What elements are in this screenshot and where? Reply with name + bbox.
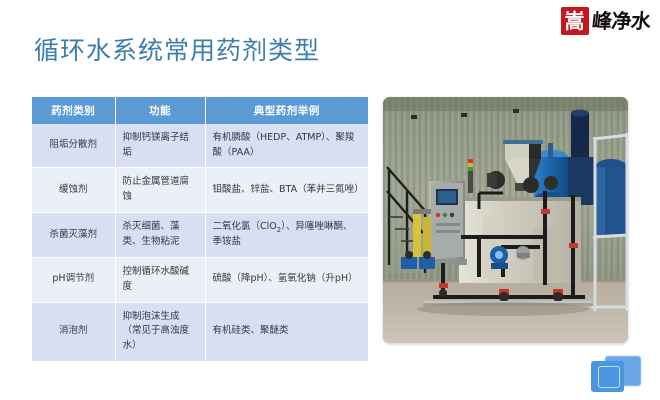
cell-function: 抑制钙镁离子结垢 xyxy=(115,124,205,168)
table-header-row: 药剂类别 功能 典型药剂举例 xyxy=(32,97,368,124)
deco-square-outline xyxy=(598,366,620,388)
decorative-squares xyxy=(591,356,641,394)
page-title: 循环水系统常用药剂类型 xyxy=(34,34,320,68)
logo-wordmark: 峰净水 xyxy=(590,11,651,31)
slide-canvas: 嵩 峰净水 循环水系统常用药剂类型 药剂类别 功能 典型药剂举例 阻垢分散剂 抑… xyxy=(0,0,660,400)
examples-text-pre: 二氧化氯（ClO xyxy=(213,221,277,232)
cell-category: 阻垢分散剂 xyxy=(32,124,115,168)
table-row: 消泡剂 抑制泡沫生成（常见于高浊度水） 有机硅类、聚醚类 xyxy=(32,302,368,361)
company-logo: 嵩 峰净水 xyxy=(561,6,651,36)
table-row: 阻垢分散剂 抑制钙镁离子结垢 有机膦酸（HEDP、ATMP）、聚羧酸（PAA） xyxy=(32,124,368,168)
table-row: 杀菌灭藻剂 杀灭细菌、藻类、生物粘泥 二氧化氯（ClO2）、异噻唑啉酮、季铵盐 xyxy=(32,212,368,257)
cell-category: 缓蚀剂 xyxy=(32,168,115,212)
cell-function: 杀灭细菌、藻类、生物粘泥 xyxy=(115,212,205,257)
cell-function: 抑制泡沫生成（常见于高浊度水） xyxy=(115,302,205,361)
cell-category: pH调节剂 xyxy=(32,258,115,302)
column-header-category: 药剂类别 xyxy=(32,97,115,124)
cell-function: 控制循环水酸碱度 xyxy=(115,258,205,302)
cell-examples: 有机膦酸（HEDP、ATMP）、聚羧酸（PAA） xyxy=(205,124,368,168)
cell-examples: 有机硅类、聚醚类 xyxy=(205,302,368,361)
column-header-function: 功能 xyxy=(115,97,205,124)
table-row: pH调节剂 控制循环水酸碱度 硫酸（降pH）、氢氧化钠（升pH） xyxy=(32,258,368,302)
cell-examples: 钼酸盐、锌盐、BTA（苯并三氮唑） xyxy=(205,168,368,212)
seal-icon: 嵩 xyxy=(561,7,589,35)
cell-examples: 二氧化氯（ClO2）、异噻唑啉酮、季铵盐 xyxy=(205,212,368,257)
cell-function: 防止金属管道腐蚀 xyxy=(115,168,205,212)
chemical-types-table: 药剂类别 功能 典型药剂举例 阻垢分散剂 抑制钙镁离子结垢 有机膦酸（HEDP、… xyxy=(32,97,368,361)
cell-category: 消泡剂 xyxy=(32,302,115,361)
cell-category: 杀菌灭藻剂 xyxy=(32,212,115,257)
table-row: 缓蚀剂 防止金属管道腐蚀 钼酸盐、锌盐、BTA（苯并三氮唑） xyxy=(32,168,368,212)
column-header-examples: 典型药剂举例 xyxy=(205,97,368,124)
cell-examples: 硫酸（降pH）、氢氧化钠（升pH） xyxy=(205,258,368,302)
equipment-photo xyxy=(383,97,628,343)
